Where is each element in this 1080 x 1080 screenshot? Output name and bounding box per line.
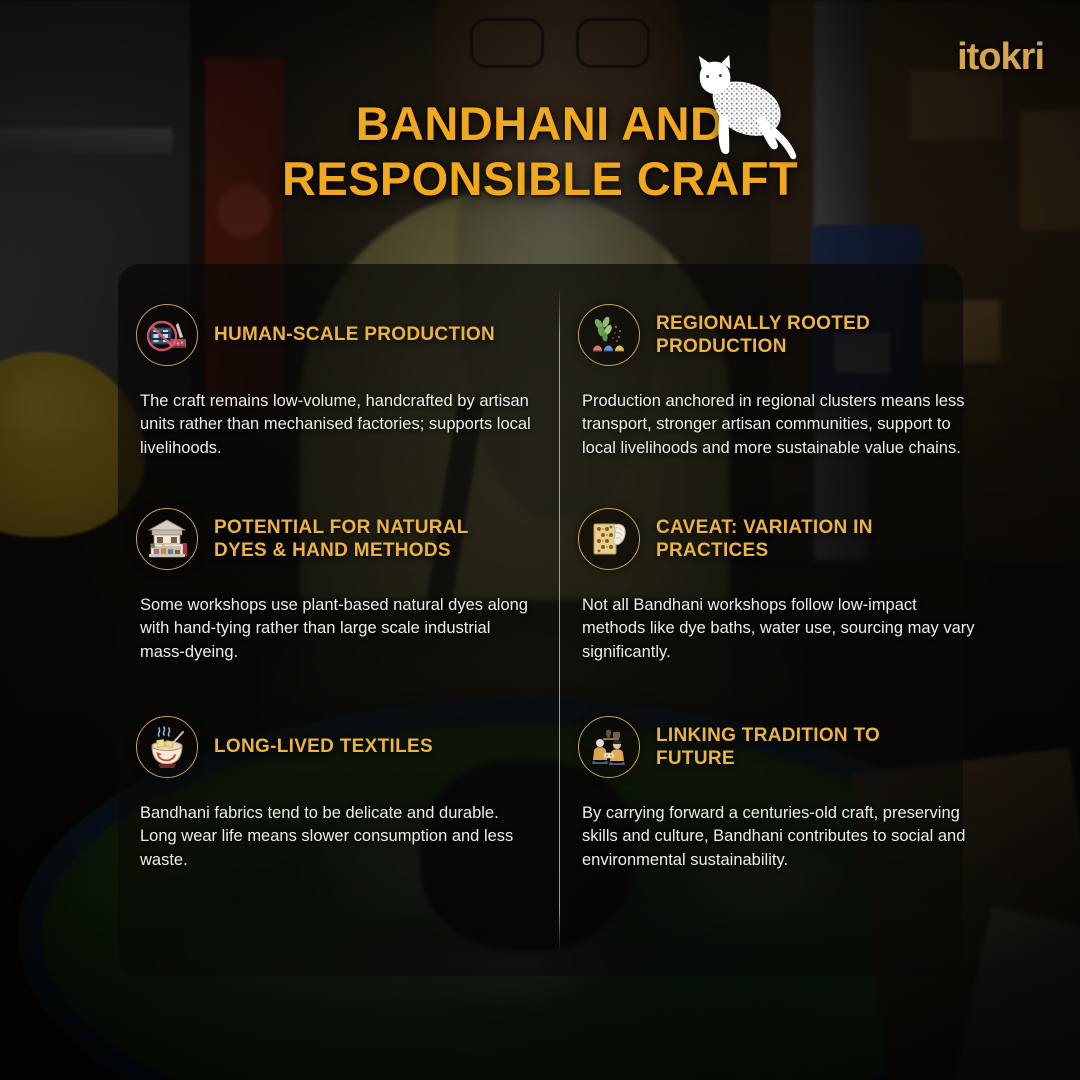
card-title: LINKING TRADITION TO FUTURE (656, 724, 961, 770)
steaming-dye-pot-icon (136, 716, 198, 778)
card-body: The craft remains low-volume, handcrafte… (136, 390, 536, 460)
card-potential-for-natural-dyes[interactable]: POTENTIAL FOR NATURAL DYES & HAND METHOD… (136, 508, 536, 664)
card-body: By carrying forward a centuries-old craf… (578, 802, 978, 872)
card-title: POTENTIAL FOR NATURAL DYES & HAND METHOD… (214, 516, 519, 562)
hand-holding-bandhani-fabric-icon (578, 508, 640, 570)
card-header: LINKING TRADITION TO FUTURE (578, 716, 978, 778)
page-title: BANDHANI AND RESPONSIBLE CRAFT (0, 96, 1080, 207)
itokri-logo[interactable]: itokri (957, 38, 1044, 76)
natural-dye-plant-icon (578, 304, 640, 366)
card-regionally-rooted-production[interactable]: REGIONALLY ROOTED PRODUCTION Production … (578, 304, 978, 460)
page-title-line-2: RESPONSIBLE CRAFT (150, 151, 930, 206)
column-divider (559, 288, 560, 952)
logo-text: itokri (957, 36, 1044, 78)
card-title: HUMAN-SCALE PRODUCTION (214, 323, 495, 346)
card-header: CAVEAT: VARIATION IN PRACTICES (578, 508, 978, 570)
card-body: Production anchored in regional clusters… (578, 390, 978, 460)
content-panel: HUMAN-SCALE PRODUCTION The craft remains… (118, 264, 963, 976)
card-human-scale-production[interactable]: HUMAN-SCALE PRODUCTION The craft remains… (136, 304, 536, 460)
card-long-lived-textiles[interactable]: LONG-LIVED TEXTILES Bandhani fabrics ten… (136, 716, 536, 872)
card-body: Some workshops use plant-based natural d… (136, 594, 536, 664)
page-title-line-1: BANDHANI AND (150, 96, 930, 151)
card-header: HUMAN-SCALE PRODUCTION (136, 304, 536, 366)
card-title: LONG-LIVED TEXTILES (214, 735, 433, 758)
card-caveat-variation-in-practices[interactable]: CAVEAT: VARIATION IN PRACTICES Not all B… (578, 508, 978, 664)
card-header: REGIONALLY ROOTED PRODUCTION (578, 304, 978, 366)
card-body: Not all Bandhani workshops follow low-im… (578, 594, 978, 664)
card-header: LONG-LIVED TEXTILES (136, 716, 536, 778)
card-body: Bandhani fabrics tend to be delicate and… (136, 802, 536, 872)
cat-illustration-icon (686, 52, 804, 164)
card-linking-tradition-to-future[interactable]: LINKING TRADITION TO FUTURE By carrying … (578, 716, 978, 872)
card-title: REGIONALLY ROOTED PRODUCTION (656, 312, 961, 358)
two-artisans-icon (578, 716, 640, 778)
card-header: POTENTIAL FOR NATURAL DYES & HAND METHOD… (136, 508, 536, 570)
no-factory-icon (136, 304, 198, 366)
infographic-poster: itokri BANDHANI AND RESPONSIBLE CRAFT (0, 0, 1080, 1080)
artisan-workshop-icon (136, 508, 198, 570)
card-title: CAVEAT: VARIATION IN PRACTICES (656, 516, 961, 562)
